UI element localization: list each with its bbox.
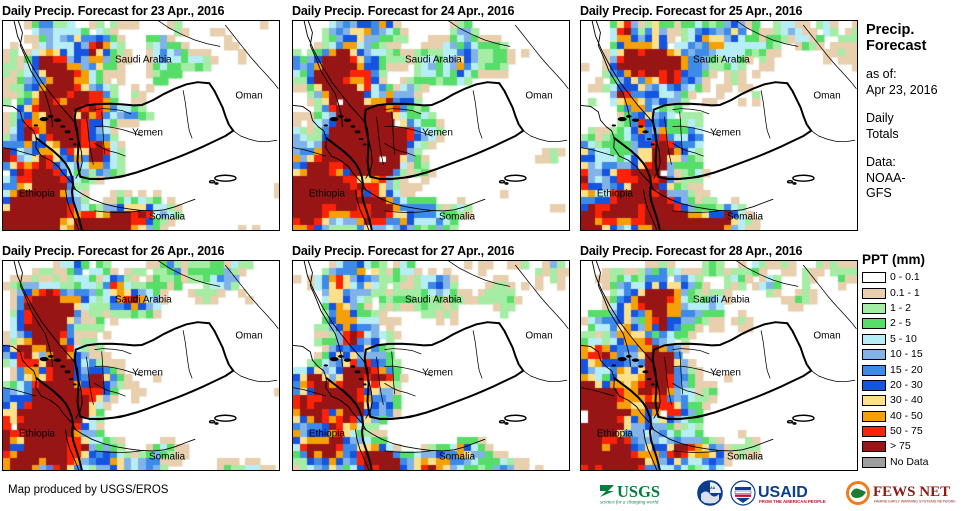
panel-title-p2: Daily Precip. Forecast for 24 Apr., 2016 [292, 4, 570, 20]
legend-row: 0.1 - 1 [862, 285, 962, 300]
totals-line2: Totals [866, 127, 964, 143]
svg-text:science for a changing world: science for a changing world [600, 501, 659, 506]
forecast-panel-p3: Daily Precip. Forecast for 25 Apr., 2016… [580, 4, 858, 231]
legend-swatch [862, 334, 886, 345]
country-boundaries [581, 261, 858, 471]
info-title-line1: Precip. [866, 22, 964, 38]
legend-row: > 75 [862, 439, 962, 454]
map-canvas-p6[interactable]: Saudi ArabiaOmanYemenEthiopiaSomalia [580, 260, 858, 471]
panel-title-p3: Daily Precip. Forecast for 25 Apr., 2016 [580, 4, 858, 20]
country-boundaries [293, 261, 570, 471]
country-boundaries [293, 21, 570, 231]
country-boundaries [3, 21, 280, 231]
forecast-panel-p4: Daily Precip. Forecast for 26 Apr., 2016… [2, 244, 280, 471]
legend-label: 40 - 50 [890, 411, 923, 422]
forecast-panel-p1: Daily Precip. Forecast for 23 Apr., 2016… [2, 4, 280, 231]
as-of-date: Apr 23, 2016 [866, 83, 964, 99]
info-title: Precip. Forecast [866, 22, 964, 54]
forecast-panel-p5: Daily Precip. Forecast for 27 Apr., 2016… [292, 244, 570, 471]
legend-label: 10 - 15 [890, 349, 923, 360]
legend-swatch [862, 365, 886, 376]
legend-row: 2 - 5 [862, 316, 962, 331]
legend-swatch [862, 288, 886, 299]
panel-title-p1: Daily Precip. Forecast for 23 Apr., 2016 [2, 4, 280, 20]
legend-swatch [862, 395, 886, 406]
legend-label: > 75 [890, 441, 911, 452]
info-panel: Precip. Forecast as of: Apr 23, 2016 Dai… [866, 22, 964, 202]
legend-swatch [862, 426, 886, 437]
legend-title: PPT (mm) [862, 252, 962, 267]
legend-label: 20 - 30 [890, 380, 923, 391]
map-credit: Map produced by USGS/EROS [8, 484, 168, 496]
map-canvas-p3[interactable]: Saudi ArabiaOmanYemenEthiopiaSomalia [580, 20, 858, 231]
map-canvas-p4[interactable]: Saudi ArabiaOmanYemenEthiopiaSomalia [2, 260, 280, 471]
legend-row: 1 - 2 [862, 301, 962, 316]
legend-swatch [862, 349, 886, 360]
svg-text:FEWS NET: FEWS NET [873, 484, 950, 500]
legend-label: 1 - 2 [890, 303, 911, 314]
legend-label: 0 - 0.1 [890, 272, 920, 283]
legend-swatch [862, 272, 886, 283]
data-source-label: Data: [866, 155, 964, 171]
svg-text:USGS: USGS [617, 482, 660, 501]
legend-row: 0 - 0.1 [862, 270, 962, 285]
legend-items: 0 - 0.10.1 - 11 - 22 - 55 - 1010 - 1515 … [862, 270, 962, 470]
fewsnet-logo[interactable]: FEWS NET FAMINE EARLY WARNING SYSTEMS NE… [845, 480, 957, 506]
legend-label: 15 - 20 [890, 365, 923, 376]
noaa-logo[interactable]: NOAA [697, 480, 723, 506]
legend-swatch [862, 318, 886, 329]
legend-row: 20 - 30 [862, 378, 962, 393]
legend-row: 40 - 50 [862, 409, 962, 424]
forecast-panel-p6: Daily Precip. Forecast for 28 Apr., 2016… [580, 244, 858, 471]
legend-label: No Data [890, 457, 929, 468]
totals-line1: Daily [866, 111, 964, 127]
legend-swatch [862, 441, 886, 452]
legend-label: 30 - 40 [890, 395, 923, 406]
svg-text:NOAA: NOAA [705, 486, 716, 490]
usaid-logo[interactable]: USAID FROM THE AMERICAN PEOPLE [730, 480, 838, 506]
legend-swatch [862, 457, 886, 468]
legend-swatch [862, 380, 886, 391]
legend-swatch [862, 303, 886, 314]
panel-title-p5: Daily Precip. Forecast for 27 Apr., 2016 [292, 244, 570, 260]
country-boundaries [581, 21, 858, 231]
legend-row: 10 - 15 [862, 347, 962, 362]
legend-row: 15 - 20 [862, 362, 962, 377]
legend-label: 2 - 5 [890, 318, 911, 329]
panel-title-p4: Daily Precip. Forecast for 26 Apr., 2016 [2, 244, 280, 260]
legend-row: 5 - 10 [862, 332, 962, 347]
panel-title-p6: Daily Precip. Forecast for 28 Apr., 2016 [580, 244, 858, 260]
data-source-block: Data: NOAA- GFS [866, 155, 964, 202]
country-boundaries [3, 261, 280, 471]
legend-label: 0.1 - 1 [890, 288, 920, 299]
info-title-line2: Forecast [866, 38, 964, 54]
as-of-label: as of: [866, 67, 964, 83]
svg-text:FROM THE AMERICAN PEOPLE: FROM THE AMERICAN PEOPLE [759, 499, 826, 504]
legend-swatch [862, 411, 886, 422]
map-canvas-p1[interactable]: Saudi ArabiaOmanYemenEthiopiaSomalia [2, 20, 280, 231]
legend-label: 5 - 10 [890, 334, 917, 345]
map-canvas-p2[interactable]: Saudi ArabiaOmanYemenEthiopiaSomalia [292, 20, 570, 231]
legend-row: No Data [862, 455, 962, 470]
data-source-line2: GFS [866, 186, 964, 202]
legend-label: 50 - 75 [890, 426, 923, 437]
legend-row: 30 - 40 [862, 393, 962, 408]
agency-logos: USGS science for a changing world NOAA U… [598, 480, 957, 506]
usgs-logo[interactable]: USGS science for a changing world [598, 480, 690, 506]
svg-text:FAMINE EARLY WARNING SYSTEMS N: FAMINE EARLY WARNING SYSTEMS NETWORK [874, 500, 956, 504]
forecast-panel-p2: Daily Precip. Forecast for 24 Apr., 2016… [292, 4, 570, 231]
legend-row: 50 - 75 [862, 424, 962, 439]
legend: PPT (mm) 0 - 0.10.1 - 11 - 22 - 55 - 101… [862, 252, 962, 470]
as-of-block: as of: Apr 23, 2016 [866, 67, 964, 98]
data-source-line1: NOAA- [866, 171, 964, 187]
totals-block: Daily Totals [866, 111, 964, 142]
map-canvas-p5[interactable]: Saudi ArabiaOmanYemenEthiopiaSomalia [292, 260, 570, 471]
